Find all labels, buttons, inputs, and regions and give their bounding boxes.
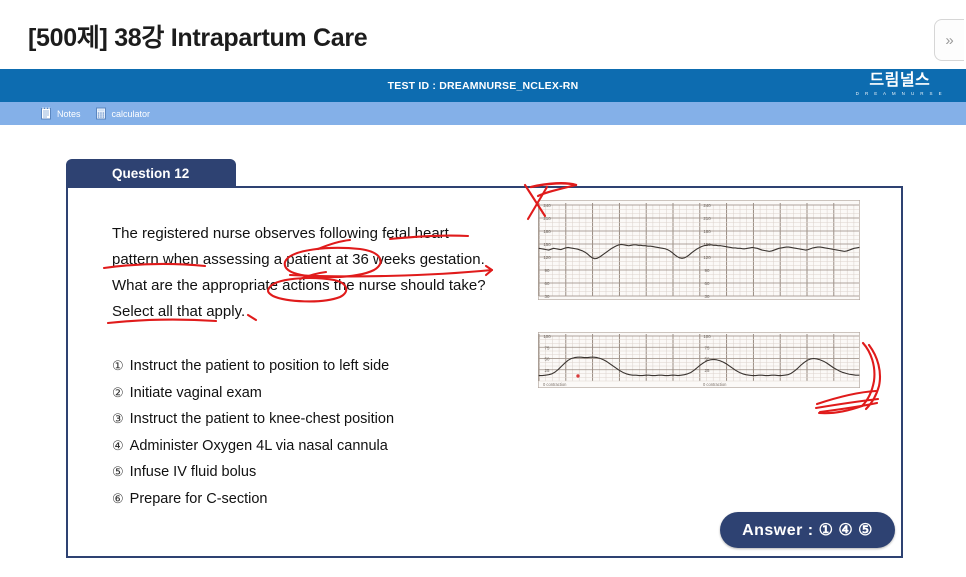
stem-line: pattern when assessing a patient at 36 w… [112,247,532,273]
toolbar-item-notes[interactable]: Notes [40,107,81,120]
option-number: ⑥ [112,486,124,513]
svg-text:60: 60 [545,281,550,286]
calculator-icon [95,107,107,120]
svg-text:75: 75 [545,345,550,350]
svg-text:210: 210 [703,216,711,221]
svg-text:75: 75 [705,345,710,350]
svg-text:100: 100 [703,334,711,339]
option-item[interactable]: ② Initiate vaginal exam [112,380,394,407]
answer-badge[interactable]: Answer : ① ④ ⑤ [720,512,895,548]
svg-text:210: 210 [543,216,551,221]
question-number-tab: Question 12 [66,159,236,187]
stem-line: The registered nurse observes following … [112,221,532,247]
option-label: Administer Oxygen 4L via nasal cannula [130,433,388,460]
svg-text:25: 25 [705,368,710,373]
option-item[interactable]: ⑤ Infuse IV fluid bolus [112,459,394,486]
chevron-double-right-icon: » [945,33,953,48]
option-label: Instruct the patient to position to left… [130,353,390,380]
svg-text:90: 90 [705,268,710,273]
answer-options-list: ① Instruct the patient to position to le… [112,353,394,512]
test-id-label: TEST ID : DREAMNURSE_NCLEX-RN [0,69,966,102]
svg-text:0 contraction: 0 contraction [543,382,567,387]
exam-toolbar: Notes calculator [0,102,966,125]
brand-name-english: D R E A M N U R S E [856,91,944,96]
svg-text:120: 120 [703,255,711,260]
question-stem: The registered nurse observes following … [112,221,532,325]
svg-text:25: 25 [545,368,550,373]
toolbar-label-calculator: calculator [112,109,151,119]
svg-text:240: 240 [703,203,711,208]
option-number: ④ [112,433,124,460]
svg-text:50: 50 [545,357,550,362]
svg-text:90: 90 [545,268,550,273]
brand-name-korean: 드림널스 [856,73,944,90]
svg-text:120: 120 [543,255,551,260]
collapse-panel-icon[interactable]: » [934,19,964,61]
toolbar-label-notes: Notes [57,109,81,119]
option-number: ② [112,380,124,407]
svg-text:180: 180 [543,229,551,234]
question-number-label: Question 12 [112,166,189,181]
test-info-bar: TEST ID : DREAMNURSE_NCLEX-RN 드림널스 D R E… [0,69,966,102]
svg-text:60: 60 [705,281,710,286]
uterine-contraction-chart: 1001007575505025250 contraction0 contrac… [538,332,860,388]
toolbar-item-calculator[interactable]: calculator [95,107,151,120]
brand-logo: 드림널스 D R E A M N U R S E [856,73,944,96]
option-number: ① [112,353,124,380]
option-label: Initiate vaginal exam [130,380,262,407]
svg-text:30: 30 [545,294,550,299]
option-item[interactable]: ⑥ Prepare for C-section [112,486,394,513]
fetal-heart-rate-chart: 2402402102101801801501501201209090606030… [538,200,860,300]
option-label: Prepare for C-section [130,486,268,513]
option-item[interactable]: ③ Instruct the patient to knee-chest pos… [112,406,394,433]
svg-text:150: 150 [543,242,551,247]
svg-text:240: 240 [543,203,551,208]
stem-line: What are the appropriate actions the nur… [112,273,532,299]
option-label: Instruct the patient to knee-chest posit… [130,406,394,433]
svg-text:100: 100 [543,334,551,339]
option-item[interactable]: ① Instruct the patient to position to le… [112,353,394,380]
notes-icon [40,107,52,120]
exam-screen: [500제] 38강 Intrapartum Care » TEST ID : … [0,0,966,577]
svg-text:180: 180 [703,229,711,234]
option-label: Infuse IV fluid bolus [130,459,257,486]
svg-text:30: 30 [705,294,710,299]
svg-text:0 contraction: 0 contraction [703,382,727,387]
option-number: ⑤ [112,459,124,486]
option-item[interactable]: ④ Administer Oxygen 4L via nasal cannula [112,433,394,460]
page-title: [500제] 38강 Intrapartum Care [28,18,367,54]
title-bar: [500제] 38강 Intrapartum Care » [0,0,966,69]
option-number: ③ [112,406,124,433]
stem-line: Select all that apply. [112,299,532,325]
